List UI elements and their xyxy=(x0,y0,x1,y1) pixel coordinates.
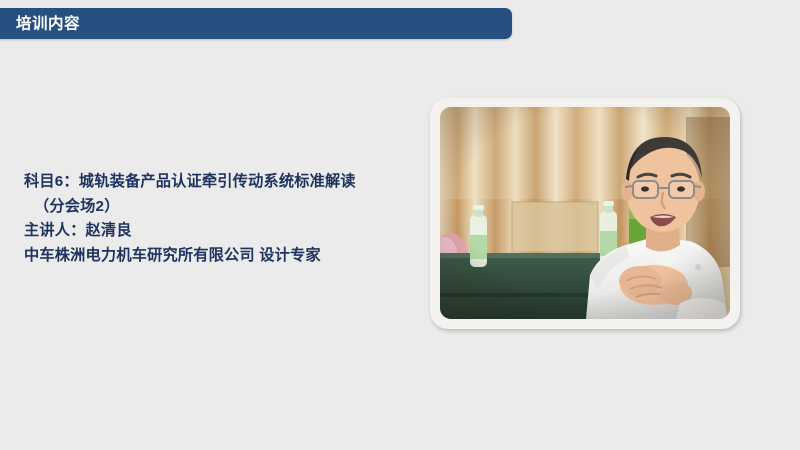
header-banner: 培训内容 xyxy=(0,8,512,39)
content-line-subject: 科目6：城轨装备产品认证牵引传动系统标准解读 xyxy=(24,170,424,195)
content-line-venue: （分会场2） xyxy=(24,195,424,220)
speaker-photo-frame xyxy=(430,98,740,329)
content-line-speaker: 主讲人：赵清良 xyxy=(24,219,424,244)
content-line-affiliation: 中车株洲电力机车研究所有限公司 设计专家 xyxy=(24,244,424,269)
speaker-photo xyxy=(440,107,730,319)
speaker-photo-image xyxy=(440,107,730,319)
presentation-slide: 培训内容 科目6：城轨装备产品认证牵引传动系统标准解读 （分会场2） 主讲人：赵… xyxy=(0,0,800,450)
content-text-block: 科目6：城轨装备产品认证牵引传动系统标准解读 （分会场2） 主讲人：赵清良 中车… xyxy=(24,170,424,269)
page-title: 培训内容 xyxy=(16,16,80,32)
